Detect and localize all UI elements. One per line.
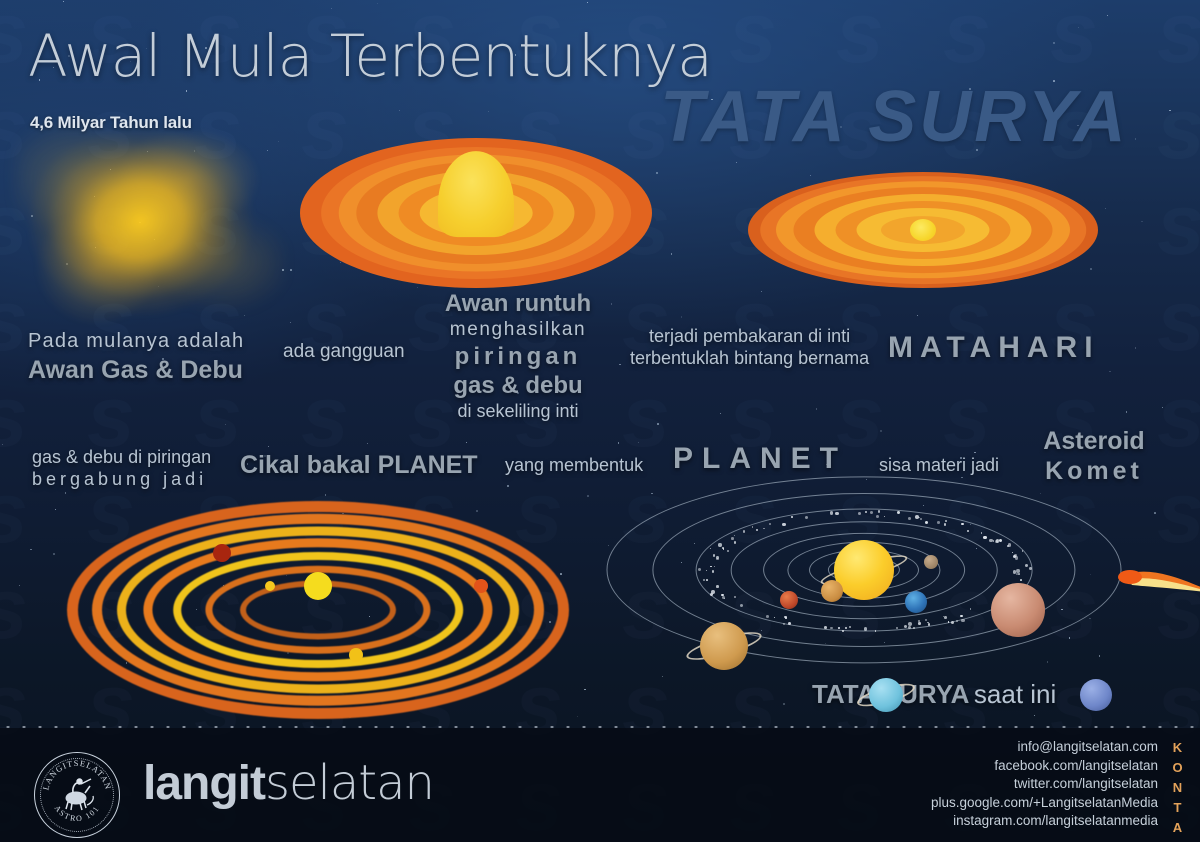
caption-collapse: Awan runtuh menghasilkan piringan gas & … <box>434 290 602 422</box>
asteroid <box>908 517 911 520</box>
star <box>1053 42 1054 43</box>
watermark-letter: s <box>1157 182 1200 268</box>
watermark-letter: s <box>1157 86 1200 172</box>
caption-collapse-line1: Awan runtuh <box>434 290 602 318</box>
protoplanet-small <box>265 581 275 591</box>
star <box>584 689 585 690</box>
caption-accretion-line1: gas & debu di piringan <box>32 447 211 468</box>
watermark-letter: s <box>1157 0 1200 76</box>
label-matahari-text: MATAHARI <box>888 331 1100 365</box>
disk-core <box>910 219 936 241</box>
star <box>325 494 327 496</box>
svg-text:LANGITSELATAN: LANGITSELATAN <box>41 759 112 791</box>
asteroid <box>943 616 944 617</box>
star <box>587 2 588 3</box>
protoplanet-yellow <box>349 648 363 662</box>
star <box>657 423 659 425</box>
caption-formation: yang membentuk <box>505 455 643 476</box>
asteroid <box>756 529 757 530</box>
venus <box>821 580 843 602</box>
star <box>1135 138 1136 139</box>
infographic-canvas: ssssssssssssssssssssssssssssssssssssssss… <box>0 0 1200 842</box>
star <box>1162 407 1163 408</box>
star <box>671 253 673 255</box>
caption-cloud-line2: Awan Gas & Debu <box>28 356 244 385</box>
caption-ignition-line2: terbentuklah bintang bernama <box>630 348 869 369</box>
star <box>488 111 489 112</box>
star <box>19 585 20 586</box>
asteroid <box>830 511 833 514</box>
star <box>507 485 509 487</box>
mars <box>780 591 798 609</box>
asteroid <box>913 627 915 629</box>
label-cikal-bakal-planet: Cikal bakal PLANET <box>240 451 478 480</box>
star <box>587 495 589 497</box>
asteroid <box>993 540 994 541</box>
brand-bold: langit <box>143 757 265 810</box>
page-subtitle: 4,6 Milyar Tahun lalu <box>30 113 192 133</box>
star <box>608 545 609 546</box>
asteroid <box>918 622 920 624</box>
label-matahari: MATAHARI <box>888 331 1100 365</box>
asteroid <box>718 543 721 546</box>
label-tata-surya-light: saat ini <box>974 679 1056 709</box>
caption-ignition: terjadi pembakaran di inti terbentuklah … <box>630 326 869 369</box>
star <box>638 442 639 443</box>
protoplanet-red <box>213 544 231 562</box>
star <box>720 413 721 414</box>
mercury <box>924 555 938 569</box>
star <box>1135 347 1137 349</box>
star <box>30 549 32 551</box>
star <box>1141 221 1142 222</box>
contact-email[interactable]: info@langitselatan.com <box>931 738 1158 757</box>
asteroid <box>928 623 930 625</box>
asteroid <box>897 511 900 514</box>
star <box>761 291 762 292</box>
caption-ignition-line1: terjadi pembakaran di inti <box>630 326 869 347</box>
watermark-letter: s <box>1157 278 1200 364</box>
star <box>1040 493 1041 494</box>
star <box>1107 15 1108 16</box>
asteroid <box>961 523 964 526</box>
proto-sun <box>304 572 332 600</box>
watermark-letter: s <box>622 374 670 460</box>
star <box>880 430 881 431</box>
star <box>367 443 368 444</box>
star <box>466 442 467 443</box>
star <box>560 573 562 575</box>
contact-facebook[interactable]: facebook.com/langitselatan <box>931 757 1158 776</box>
star <box>611 303 612 304</box>
asteroid <box>805 516 808 519</box>
asteroid <box>951 621 954 624</box>
star <box>399 110 401 112</box>
watermark-letter: s <box>0 566 28 652</box>
label-asteroid-text: Asteroid <box>1024 427 1164 456</box>
footer-divider <box>0 726 1200 728</box>
caption-leftovers-line1: sisa materi jadi <box>879 455 999 476</box>
asteroid <box>824 626 827 629</box>
caption-disturbance-line1: ada gangguan <box>283 341 405 363</box>
star <box>618 442 620 444</box>
asteroid <box>716 585 719 588</box>
collapsing-disk-illustration <box>300 138 652 288</box>
asteroid <box>1020 579 1022 581</box>
caption-leftovers: sisa materi jadi <box>879 455 999 476</box>
asteroid <box>878 510 880 512</box>
protoplanet-orange <box>474 579 488 593</box>
watermark-letter: s <box>0 0 28 76</box>
watermark-letter: s <box>0 374 28 460</box>
star <box>331 8 333 10</box>
brand-wordmark: langitselatan <box>143 755 434 811</box>
star <box>651 493 653 495</box>
watermark-letter: s <box>301 374 349 460</box>
star <box>619 364 620 365</box>
star <box>186 90 187 91</box>
langitselatan-seal-logo: LANGITSELATAN ASTRO 101 <box>34 752 120 838</box>
star <box>1034 715 1036 717</box>
comet <box>1118 564 1200 598</box>
star <box>961 477 963 479</box>
star <box>268 446 269 447</box>
star <box>63 1 64 2</box>
asteroid <box>960 615 963 618</box>
asteroid <box>876 515 879 518</box>
star <box>1169 110 1171 112</box>
gas-dust-cloud-illustration <box>30 120 270 330</box>
asteroid <box>722 596 725 599</box>
star <box>377 3 378 4</box>
label-asteroid-komet: Asteroid Komet <box>1024 427 1164 486</box>
centaur-emblem-icon <box>66 778 94 810</box>
label-cikal-bakal-planet-text: Cikal bakal PLANET <box>240 451 478 480</box>
label-planet: PLANET <box>673 442 847 476</box>
asteroid <box>970 608 971 609</box>
star <box>974 452 975 453</box>
watermark-letter: s <box>729 0 777 76</box>
asteroid <box>937 521 940 524</box>
star <box>2 444 3 445</box>
star <box>681 316 682 317</box>
star <box>53 553 55 555</box>
asteroid <box>896 627 898 629</box>
asteroid <box>766 615 769 618</box>
caption-collapse-line2: menghasilkan <box>434 319 602 341</box>
page-title-highlight: TATA SURYA <box>660 76 1129 158</box>
jupiter <box>991 583 1045 637</box>
watermark-letter: s <box>836 0 884 76</box>
seal-top-text: LANGITSELATAN <box>41 759 112 791</box>
asteroid <box>944 616 947 619</box>
label-tata-surya-present: TATA SURYA saat ini <box>812 679 1056 710</box>
caption-accretion-line2: bergabung jadi <box>32 469 211 490</box>
asteroid <box>1022 550 1023 551</box>
sun <box>834 540 894 600</box>
contact-list: info@langitselatan.com facebook.com/lang… <box>931 738 1158 831</box>
star <box>656 172 657 173</box>
seal-bottom-text: ASTRO 101 <box>53 804 102 824</box>
caption-accretion: gas & debu di piringan bergabung jadi <box>32 447 211 490</box>
asteroid <box>706 579 708 581</box>
protoplanetary-ring <box>67 501 569 719</box>
asteroid <box>731 537 734 540</box>
caption-cloud-line1: Pada mulanya adalah <box>28 330 244 353</box>
contact-twitter[interactable]: twitter.com/langitselatan <box>931 775 1158 794</box>
star <box>1126 411 1128 413</box>
contact-googleplus[interactable]: plus.google.com/+LangitselatanMedia <box>931 794 1158 813</box>
star <box>290 269 292 271</box>
asteroid <box>858 512 861 515</box>
svg-text:ASTRO 101: ASTRO 101 <box>53 804 102 824</box>
asteroid <box>783 623 785 625</box>
asteroid <box>734 596 735 597</box>
contact-instagram[interactable]: instagram.com/langitselatanmedia <box>931 812 1158 831</box>
saturn <box>700 622 748 670</box>
star <box>577 716 578 717</box>
star <box>225 424 226 425</box>
asteroid <box>875 630 876 631</box>
star <box>1109 371 1110 372</box>
watermark-letter: s <box>943 0 991 76</box>
caption-collapse-line5: di sekeliling inti <box>434 401 602 422</box>
page-title: Awal Mula Terbentuknya <box>28 22 712 90</box>
asteroid <box>945 520 947 522</box>
star <box>55 509 56 510</box>
label-planet-text: PLANET <box>673 442 847 476</box>
neptune <box>1080 679 1112 711</box>
protostar-disk-illustration <box>748 172 1098 288</box>
uranus <box>869 678 903 712</box>
asteroid <box>920 518 922 520</box>
star <box>65 492 66 493</box>
star <box>1078 27 1079 28</box>
watermark-letter: s <box>1050 0 1098 76</box>
label-komet-text: Komet <box>1024 457 1164 486</box>
kontak-label: KONTAK <box>1168 738 1188 842</box>
watermark-letter: s <box>0 470 28 556</box>
watermark-letter: s <box>943 374 991 460</box>
star <box>816 408 818 410</box>
brand-light: selatan <box>265 755 434 811</box>
star <box>917 315 919 317</box>
caption-collapse-line3: piringan <box>434 343 602 371</box>
asteroid <box>835 512 839 516</box>
star <box>290 322 291 323</box>
caption-collapse-line4: gas & debu <box>434 372 602 400</box>
caption-disturbance: ada gangguan <box>283 341 405 363</box>
protoplanetary-disk-illustration <box>78 512 558 708</box>
earth <box>905 591 927 613</box>
caption-formation-line1: yang membentuk <box>505 455 643 476</box>
asteroid <box>948 621 949 622</box>
caption-cloud: Pada mulanya adalah Awan Gas & Debu <box>28 330 244 385</box>
